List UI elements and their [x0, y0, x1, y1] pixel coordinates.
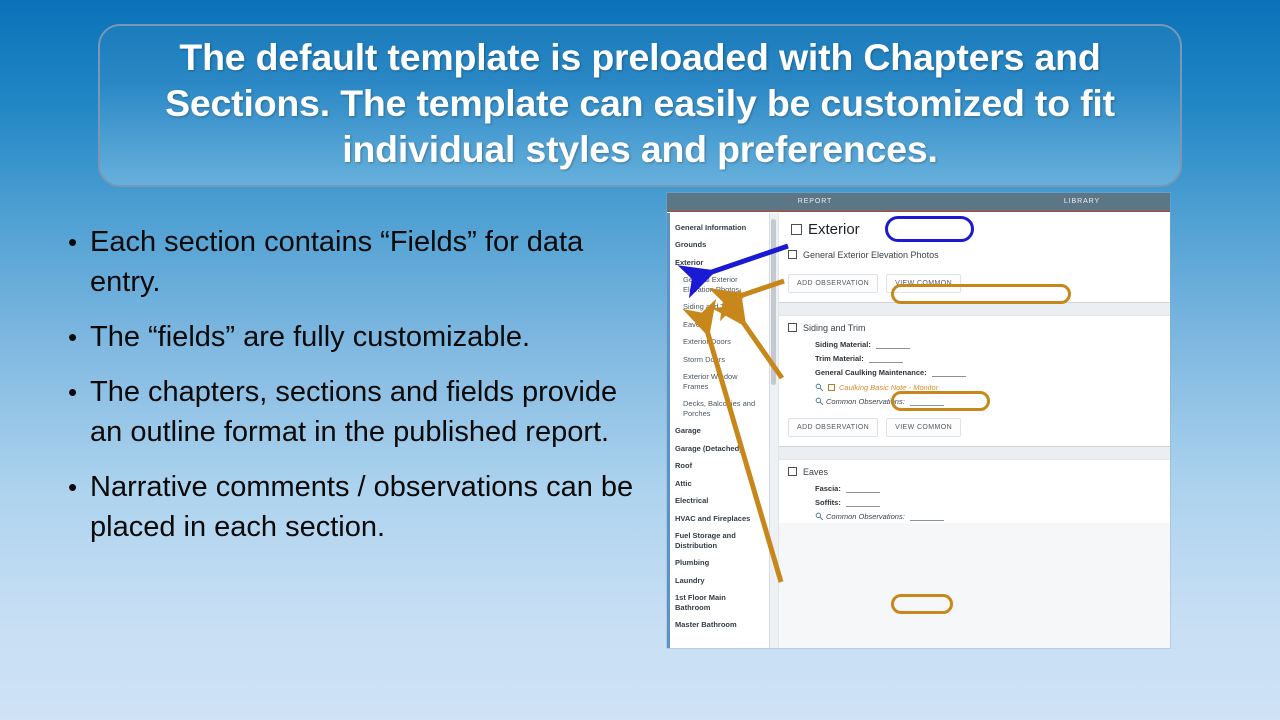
app-screenshot: REPORT LIBRARY General Information Groun… — [667, 193, 1170, 648]
app-body: General Information Grounds Exterior Gen… — [667, 213, 1170, 649]
sidebar[interactable]: General Information Grounds Exterior Gen… — [667, 213, 770, 649]
add-observation-button[interactable]: ADD OBSERVATION — [788, 418, 878, 437]
checkbox-icon[interactable] — [828, 384, 835, 391]
sidebar-item-grounds[interactable]: Grounds — [667, 236, 769, 254]
field-fascia[interactable]: Fascia: — [779, 481, 1170, 495]
slide-title-card: The default template is preloaded with C… — [98, 24, 1182, 187]
note-caulking-basic-note-monitor[interactable]: Caulking Basic Note - Monitor — [779, 379, 1170, 394]
section-title: Eaves — [803, 467, 828, 477]
vertical-scrollbar[interactable] — [770, 213, 779, 649]
field-input[interactable] — [876, 340, 910, 349]
field-siding-material[interactable]: Siding Material: — [779, 337, 1170, 351]
bullet-marker: • — [68, 467, 90, 547]
sidebar-item-fuel-storage-and-distribution[interactable]: Fuel Storage and Distribution — [667, 527, 769, 554]
sidebar-item-storm-doors[interactable]: Storm Doors — [667, 351, 769, 369]
section-heading-row[interactable]: Siding and Trim — [779, 316, 1170, 337]
section-general-exterior-elevation-photos: General Exterior Elevation Photos ADD OB… — [779, 243, 1170, 302]
field-label: Siding Material: — [815, 340, 871, 349]
field-input[interactable] — [846, 498, 880, 507]
page-title: The default template is preloaded with C… — [114, 34, 1166, 172]
list-item-text: The “fields” are fully customizable. — [90, 317, 638, 357]
sidebar-item-exterior[interactable]: Exterior — [667, 254, 769, 272]
sidebar-item-attic[interactable]: Attic — [667, 475, 769, 493]
sidebar-item-siding-and-trim[interactable]: Siding and Trim — [667, 298, 769, 316]
bullet-list: • Each section contains “Fields” for dat… — [68, 222, 638, 562]
tab-library[interactable]: LIBRARY — [994, 198, 1170, 205]
section-heading-row[interactable]: General Exterior Elevation Photos — [779, 243, 1170, 264]
sidebar-item-roof[interactable]: Roof — [667, 457, 769, 475]
section-eaves: Eaves Fascia: Soffits: Common Observatio… — [779, 460, 1170, 523]
scrollbar-thumb[interactable] — [771, 219, 776, 385]
magnifier-icon — [815, 383, 824, 392]
note-text: Caulking Basic Note - Monitor — [839, 383, 938, 392]
checkbox-icon[interactable] — [788, 467, 797, 476]
section-title: General Exterior Elevation Photos — [803, 250, 939, 260]
bullet-marker: • — [68, 222, 90, 302]
section-button-row: ADD OBSERVATION VIEW COMMON — [779, 408, 1170, 446]
sidebar-item-garage[interactable]: Garage — [667, 422, 769, 440]
bullet-marker: • — [68, 317, 90, 357]
field-label: Soffits: — [815, 498, 841, 507]
checkbox-icon[interactable] — [788, 323, 797, 332]
add-observation-button[interactable]: ADD OBSERVATION — [788, 274, 878, 293]
sidebar-item-exterior-doors[interactable]: Exterior Doors — [667, 333, 769, 351]
section-divider — [779, 302, 1170, 316]
list-item: • Each section contains “Fields” for dat… — [68, 222, 638, 302]
chapter-heading-row[interactable]: Exterior — [779, 213, 1170, 243]
sidebar-item-garage-detached[interactable]: Garage (Detached) — [667, 440, 769, 458]
chapter-panel: Exterior — [779, 213, 1170, 243]
list-item-text: Each section contains “Fields” for data … — [90, 222, 638, 302]
section-heading-row[interactable]: Eaves — [779, 460, 1170, 481]
section-siding-and-trim: Siding and Trim Siding Material: Trim Ma… — [779, 316, 1170, 446]
sidebar-item-plumbing[interactable]: Plumbing — [667, 554, 769, 572]
magnifier-icon — [815, 512, 824, 521]
view-common-button[interactable]: VIEW COMMON — [886, 274, 961, 293]
field-input[interactable] — [869, 354, 903, 363]
report-content: Exterior General Exterior Elevation Phot… — [779, 213, 1170, 649]
list-item-text: The chapters, sections and fields provid… — [90, 372, 638, 452]
chapter-title: Exterior — [808, 221, 860, 238]
checkbox-icon[interactable] — [791, 224, 802, 235]
tab-report[interactable]: REPORT — [667, 198, 963, 205]
magnifier-icon — [815, 397, 824, 406]
field-general-caulking-maintenance[interactable]: General Caulking Maintenance: — [779, 365, 1170, 379]
common-observations-label: Common Observations: — [826, 512, 905, 521]
field-label: Fascia: — [815, 484, 841, 493]
sidebar-item-general-exterior-elevation-photos[interactable]: General Exterior Elevation Photos — [667, 271, 769, 298]
list-item: • The chapters, sections and fields prov… — [68, 372, 638, 452]
sidebar-item-electrical[interactable]: Electrical — [667, 492, 769, 510]
callout-eaves — [891, 594, 953, 614]
view-common-button[interactable]: VIEW COMMON — [886, 418, 961, 437]
field-label: Trim Material: — [815, 354, 864, 363]
sidebar-item-laundry[interactable]: Laundry — [667, 572, 769, 590]
section-title: Siding and Trim — [803, 323, 866, 333]
sidebar-accent-rail — [667, 213, 670, 649]
sidebar-item-decks-balconies-and-porches[interactable]: Decks, Balconies and Porches — [667, 395, 769, 422]
field-label: General Caulking Maintenance: — [815, 368, 927, 377]
common-observations-label: Common Observations: — [826, 397, 905, 406]
app-header-bar: REPORT LIBRARY — [667, 193, 1170, 212]
field-input[interactable] — [932, 368, 966, 377]
sidebar-item-hvac-and-fireplaces[interactable]: HVAC and Fireplaces — [667, 510, 769, 528]
list-item: • The “fields” are fully customizable. — [68, 317, 638, 357]
sidebar-item-1st-floor-main-bathroom[interactable]: 1st Floor Main Bathroom — [667, 589, 769, 616]
section-divider — [779, 446, 1170, 460]
section-button-row: ADD OBSERVATION VIEW COMMON — [779, 264, 1170, 302]
checkbox-icon[interactable] — [788, 250, 797, 259]
sidebar-item-general-information[interactable]: General Information — [667, 219, 769, 237]
common-observations-siding-and-trim[interactable]: Common Observations: — [779, 394, 1170, 408]
sidebar-item-eaves[interactable]: Eaves — [667, 316, 769, 334]
field-input[interactable] — [846, 484, 880, 493]
list-item-text: Narrative comments / observations can be… — [90, 467, 638, 547]
bullet-marker: • — [68, 372, 90, 452]
common-observations-eaves[interactable]: Common Observations: — [779, 509, 1170, 523]
field-input[interactable] — [910, 397, 944, 406]
sidebar-item-exterior-window-frames[interactable]: Exterior Window Frames — [667, 368, 769, 395]
field-input[interactable] — [910, 512, 944, 521]
field-soffits[interactable]: Soffits: — [779, 495, 1170, 509]
sidebar-item-master-bathroom[interactable]: Master Bathroom — [667, 616, 769, 634]
list-item: • Narrative comments / observations can … — [68, 467, 638, 547]
field-trim-material[interactable]: Trim Material: — [779, 351, 1170, 365]
